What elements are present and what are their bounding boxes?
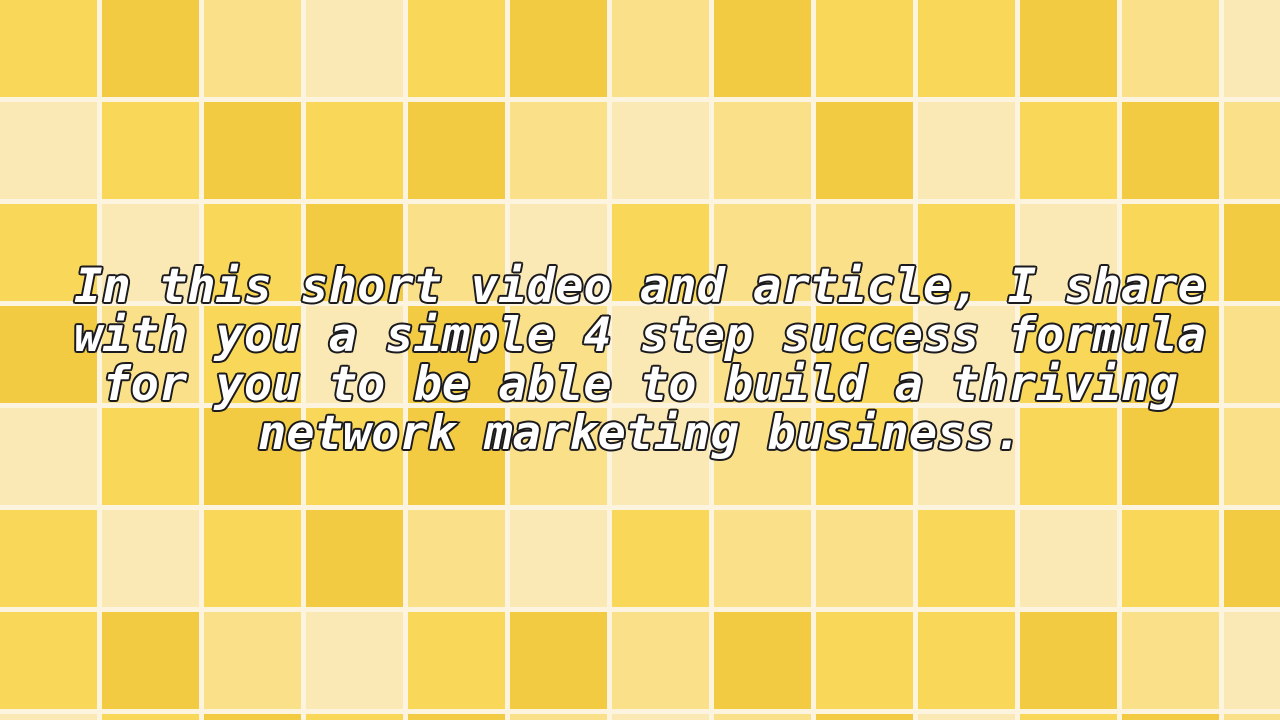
mosaic-tile (714, 306, 811, 403)
mosaic-tile (1224, 714, 1280, 720)
mosaic-tile (306, 510, 403, 607)
quote-card: In this short video and article, I share… (0, 0, 1280, 720)
mosaic-tile (816, 408, 913, 505)
mosaic-tile (306, 102, 403, 199)
mosaic-tile (306, 612, 403, 709)
mosaic-tile (0, 102, 97, 199)
mosaic-tile (1122, 306, 1219, 403)
mosaic-tile (102, 714, 199, 720)
mosaic-tile (102, 306, 199, 403)
mosaic-tile (612, 0, 709, 97)
mosaic-tile (1122, 714, 1219, 720)
mosaic-tile (0, 612, 97, 709)
mosaic-tile (816, 0, 913, 97)
mosaic-tile (0, 0, 97, 97)
mosaic-tile (714, 204, 811, 301)
mosaic-tile (102, 0, 199, 97)
mosaic-tile (0, 306, 97, 403)
mosaic-tile (918, 612, 1015, 709)
mosaic-tile (714, 510, 811, 607)
mosaic-tile (1122, 204, 1219, 301)
mosaic-tile (0, 204, 97, 301)
mosaic-tile (816, 204, 913, 301)
mosaic-tile (204, 510, 301, 607)
mosaic-tile (1224, 612, 1280, 709)
mosaic-tile (510, 714, 607, 720)
mosaic-tile (1122, 510, 1219, 607)
mosaic-tile (918, 306, 1015, 403)
mosaic-tile (918, 0, 1015, 97)
mosaic-tile (306, 306, 403, 403)
mosaic-tile (102, 204, 199, 301)
mosaic-tile (306, 714, 403, 720)
mosaic-tile (510, 612, 607, 709)
mosaic-tile (816, 510, 913, 607)
mosaic-tile (408, 714, 505, 720)
mosaic-tile (1224, 0, 1280, 97)
mosaic-tile (918, 510, 1015, 607)
mosaic-tile (510, 306, 607, 403)
mosaic-tile (204, 204, 301, 301)
mosaic-tile (408, 612, 505, 709)
mosaic-tile (510, 408, 607, 505)
mosaic-tile (714, 0, 811, 97)
mosaic-tile (510, 0, 607, 97)
mosaic-tile (918, 102, 1015, 199)
mosaic-tile (612, 510, 709, 607)
mosaic-tile (1020, 102, 1117, 199)
mosaic-tile (1224, 306, 1280, 403)
mosaic-tile (510, 510, 607, 607)
mosaic-tile (1122, 0, 1219, 97)
mosaic-tile (408, 510, 505, 607)
mosaic-tile (408, 306, 505, 403)
mosaic-tile (510, 102, 607, 199)
mosaic-tile (714, 102, 811, 199)
mosaic-tile (816, 612, 913, 709)
mosaic-tile (408, 408, 505, 505)
mosaic-tile (918, 714, 1015, 720)
mosaic-tile (408, 102, 505, 199)
mosaic-tile (408, 204, 505, 301)
mosaic-tile (102, 408, 199, 505)
mosaic-tile (204, 612, 301, 709)
mosaic-tile (1020, 510, 1117, 607)
mosaic-tile (816, 306, 913, 403)
mosaic-tile (1224, 102, 1280, 199)
mosaic-tile (612, 102, 709, 199)
mosaic-tile (1020, 306, 1117, 403)
mosaic-tile (306, 204, 403, 301)
mosaic-tile (714, 612, 811, 709)
mosaic-tile (408, 0, 505, 97)
mosaic-tile (612, 204, 709, 301)
mosaic-tile (1224, 204, 1280, 301)
mosaic-tile (1224, 510, 1280, 607)
mosaic-tile (102, 102, 199, 199)
mosaic-tile (0, 714, 97, 720)
mosaic-tile (918, 204, 1015, 301)
mosaic-tile (204, 714, 301, 720)
mosaic-tile (510, 204, 607, 301)
mosaic-tile (816, 714, 913, 720)
mosaic-tile (0, 510, 97, 607)
mosaic-tile (612, 408, 709, 505)
mosaic-tile (1122, 408, 1219, 505)
mosaic-tile (204, 408, 301, 505)
mosaic-tile (816, 102, 913, 199)
mosaic-tile (306, 408, 403, 505)
mosaic-tile (612, 306, 709, 403)
mosaic-tile (204, 0, 301, 97)
mosaic-tile (102, 510, 199, 607)
mosaic-tile (1224, 408, 1280, 505)
mosaic-tile (0, 408, 97, 505)
mosaic-tile (204, 306, 301, 403)
mosaic-tile (1020, 0, 1117, 97)
mosaic-tile (612, 612, 709, 709)
tile-mosaic-background (0, 0, 1280, 720)
mosaic-tile (918, 408, 1015, 505)
mosaic-tile (714, 714, 811, 720)
mosaic-tile (1122, 612, 1219, 709)
mosaic-tile (1020, 408, 1117, 505)
mosaic-tile (102, 612, 199, 709)
mosaic-tile (1020, 204, 1117, 301)
mosaic-tile (612, 714, 709, 720)
mosaic-tile (1020, 714, 1117, 720)
mosaic-tile (306, 0, 403, 97)
mosaic-tile (204, 102, 301, 199)
mosaic-tile (1020, 612, 1117, 709)
mosaic-tile (1122, 102, 1219, 199)
mosaic-tile (714, 408, 811, 505)
